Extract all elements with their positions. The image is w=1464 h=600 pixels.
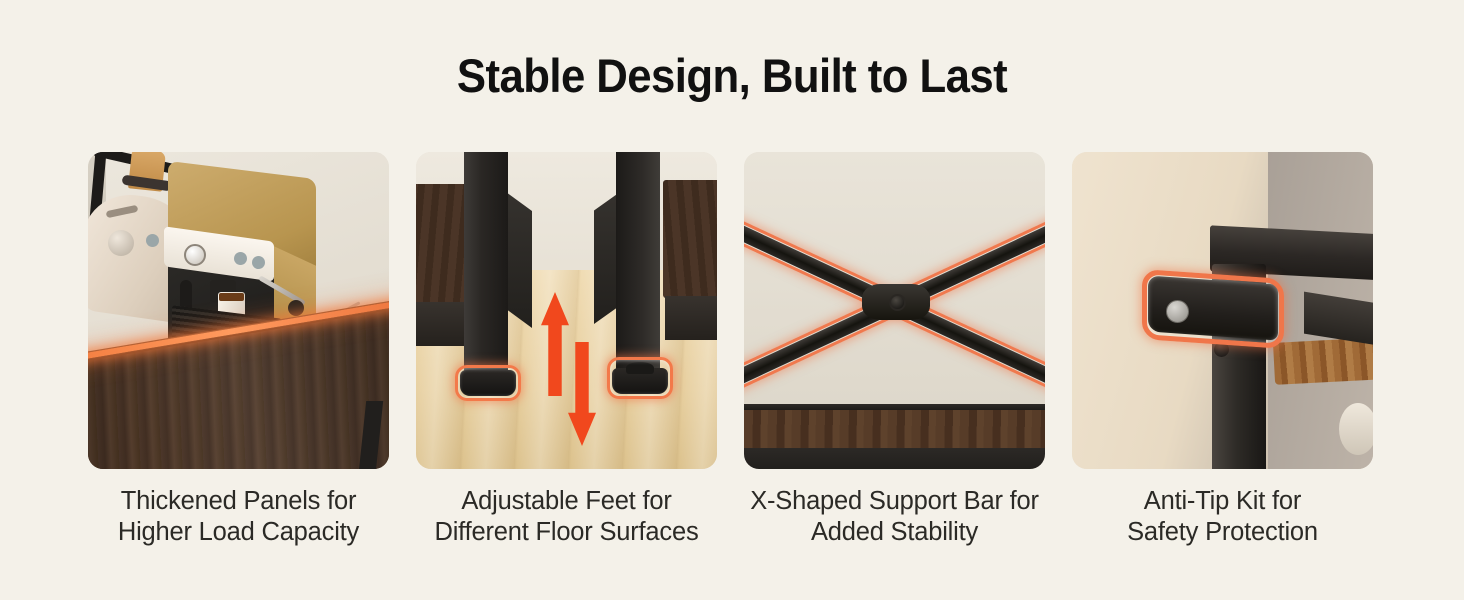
right-metal-leg [616,152,660,380]
bracket-highlight-outline [1142,269,1284,349]
feature-image-adjustable-feet [416,152,717,469]
caption-line-2: Higher Load Capacity [88,517,389,548]
right-foot-highlight-outline [607,357,673,399]
feature-item-x-support-bar: X-Shaped Support Bar for Added Stability [744,152,1045,552]
feature-item-adjustable-feet: Adjustable Feet for Different Floor Surf… [416,152,717,552]
left-brace [506,192,532,328]
control-dial [184,244,206,266]
wall-background [744,152,1045,406]
control-button-2 [234,252,247,265]
steam-wand-knob [288,300,304,316]
control-button-3 [252,256,265,269]
caption-line-1: Anti-Tip Kit for [1144,487,1301,515]
feature-list: Thickened Panels for Higher Load Capacit… [88,152,1376,552]
foreground-object [1339,403,1373,455]
left-metal-leg [464,152,508,386]
center-bolt-icon [889,294,906,311]
left-shelf-underside [416,302,468,346]
toaster-knob [108,230,134,256]
feature-caption-x-support-bar: X-Shaped Support Bar for Added Stability [744,486,1045,548]
caption-line-1: Thickened Panels for [121,487,357,515]
left-foot-highlight-outline [455,365,521,401]
shelf-bottom-trim [744,448,1045,469]
feature-image-anti-tip-kit [1072,152,1373,469]
feature-image-x-support-bar [744,152,1045,469]
feature-image-thickened-panels [88,152,389,469]
left-shelf-board [416,184,470,304]
feature-item-anti-tip-kit: Anti-Tip Kit for Safety Protection [1072,152,1373,552]
page-title: Stable Design, Built to Last [51,48,1413,103]
feature-caption-anti-tip-kit: Anti-Tip Kit for Safety Protection [1072,486,1373,548]
caption-line-1: Adjustable Feet for [461,487,671,515]
feature-caption-thickened-panels: Thickened Panels for Higher Load Capacit… [88,486,389,548]
caption-line-1: X-Shaped Support Bar for [750,487,1039,515]
product-feature-infographic: Stable Design, Built to Last [0,0,1464,600]
wood-shelf-edge [1273,337,1373,385]
right-shelf-underside [665,296,717,340]
wood-shelf-board [744,410,1045,450]
feature-item-thickened-panels: Thickened Panels for Higher Load Capacit… [88,152,389,552]
caption-line-2: Different Floor Surfaces [416,517,717,548]
control-button-1 [146,234,159,247]
caption-line-2: Added Stability [744,517,1045,548]
right-shelf-board [663,180,717,298]
caption-line-2: Safety Protection [1072,517,1373,548]
espresso-cup-fill [219,293,244,301]
feature-caption-adjustable-feet: Adjustable Feet for Different Floor Surf… [416,486,717,548]
